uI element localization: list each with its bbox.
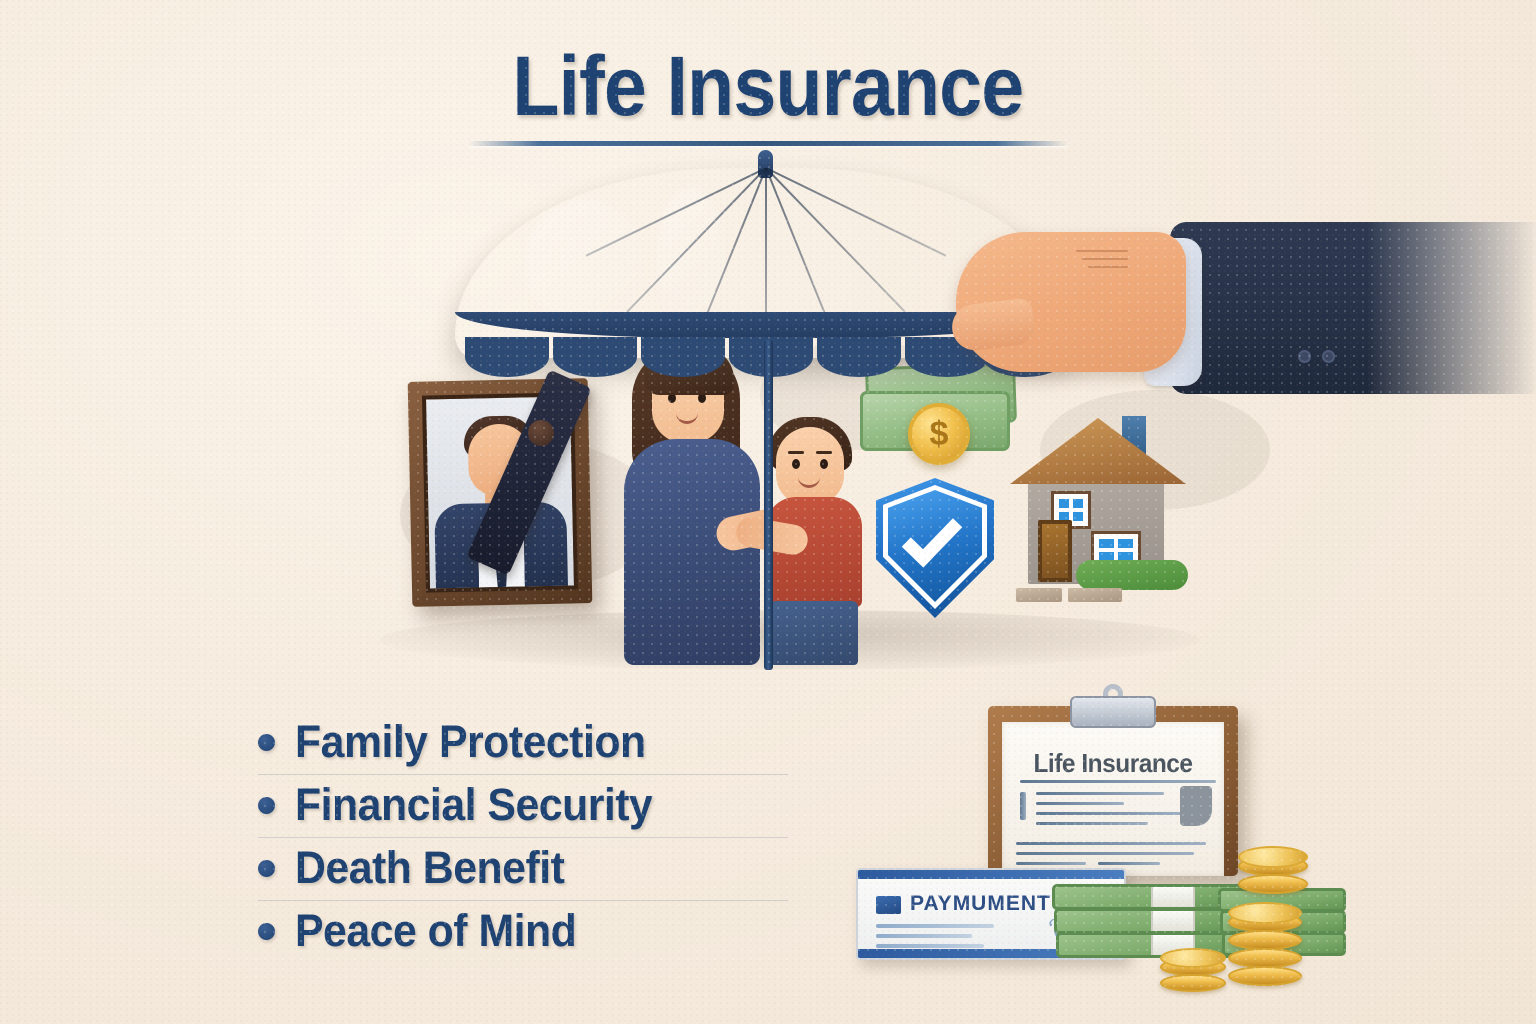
child-face bbox=[776, 427, 844, 505]
umbrella-pole bbox=[764, 340, 773, 670]
check-text-line bbox=[876, 944, 984, 948]
brow bbox=[816, 451, 832, 454]
house-icon bbox=[1010, 410, 1200, 595]
agent-hand-and-sleeve bbox=[952, 200, 1536, 400]
note-band bbox=[1151, 911, 1195, 931]
list-item[interactable]: Financial Security bbox=[258, 775, 788, 838]
list-item[interactable]: Peace of Mind bbox=[258, 901, 788, 963]
page-title-block: Life Insurance bbox=[0, 38, 1536, 146]
sleeve-button bbox=[1322, 350, 1335, 363]
security-shield-icon bbox=[876, 478, 994, 618]
house-door bbox=[1038, 520, 1072, 582]
umbrella-scallop bbox=[553, 337, 637, 377]
memorial-photo-frame bbox=[410, 380, 590, 605]
document-text-line bbox=[1036, 802, 1124, 805]
canopy-seam bbox=[766, 168, 947, 257]
knuckle-crease bbox=[1088, 266, 1128, 268]
page-title: Life Insurance bbox=[512, 38, 1023, 135]
paving-brick bbox=[1016, 588, 1062, 602]
canopy-seam bbox=[765, 168, 905, 313]
bullet-dot-icon bbox=[258, 860, 275, 877]
smile bbox=[798, 477, 820, 488]
bullet-dot-icon bbox=[258, 734, 275, 751]
dollar-coin-icon: $ bbox=[908, 403, 970, 465]
umbrella-scallop bbox=[817, 337, 901, 377]
check-label: PAYMUMENT bbox=[910, 892, 1051, 916]
hedge bbox=[1076, 560, 1188, 590]
eye bbox=[792, 459, 800, 469]
umbrella-scallop bbox=[641, 337, 725, 377]
knuckle-crease bbox=[1076, 250, 1128, 252]
eye bbox=[820, 459, 828, 469]
document-text-line bbox=[1020, 780, 1216, 783]
suit-sleeve bbox=[1170, 222, 1536, 394]
poster-canvas: Life Insurance bbox=[0, 0, 1536, 1024]
benefit-label: Peace of Mind bbox=[295, 905, 576, 957]
gold-coin-top bbox=[1228, 902, 1302, 924]
gold-coin bbox=[1228, 930, 1302, 950]
mother-dress bbox=[624, 439, 760, 665]
money-pile bbox=[1052, 850, 1382, 1000]
list-item[interactable]: Family Protection bbox=[258, 712, 788, 775]
gold-coin bbox=[1160, 974, 1226, 992]
paving-brick bbox=[1068, 588, 1122, 602]
umbrella-scallop bbox=[465, 337, 549, 377]
clipboard-clip bbox=[1070, 696, 1156, 728]
note-band bbox=[1151, 887, 1195, 907]
benefit-label: Death Benefit bbox=[295, 842, 564, 894]
gold-coin bbox=[1238, 874, 1308, 894]
document-text-line bbox=[1036, 822, 1148, 825]
benefits-list: Family Protection Financial Security Dea… bbox=[258, 712, 788, 963]
bullet-dot-icon bbox=[258, 797, 275, 814]
check-logo-icon bbox=[876, 896, 901, 914]
child-jeans bbox=[770, 601, 858, 665]
gold-coin bbox=[1228, 966, 1302, 986]
list-item[interactable]: Death Benefit bbox=[258, 838, 788, 901]
document-text-bar bbox=[1020, 792, 1026, 820]
illustration-stage: $ bbox=[0, 140, 1536, 680]
document-text-line bbox=[1036, 792, 1164, 795]
gold-coin-top bbox=[1238, 846, 1308, 868]
smile bbox=[676, 413, 698, 424]
benefit-label: Financial Security bbox=[295, 779, 652, 831]
check-text-line bbox=[876, 924, 994, 928]
gold-coin bbox=[1228, 948, 1302, 968]
document-text-line bbox=[1036, 812, 1184, 815]
benefit-label: Family Protection bbox=[295, 716, 646, 768]
document-seal-icon bbox=[1180, 786, 1212, 826]
knuckle-crease bbox=[1082, 258, 1128, 260]
document-text-line bbox=[1016, 842, 1206, 845]
bullet-dot-icon bbox=[258, 923, 275, 940]
gold-coin-top bbox=[1160, 948, 1226, 968]
house-roof bbox=[1010, 418, 1186, 484]
document-title: Life Insurance bbox=[1009, 748, 1218, 779]
sleeve-button bbox=[1298, 350, 1311, 363]
brow bbox=[788, 451, 804, 454]
check-text-line bbox=[876, 934, 972, 938]
